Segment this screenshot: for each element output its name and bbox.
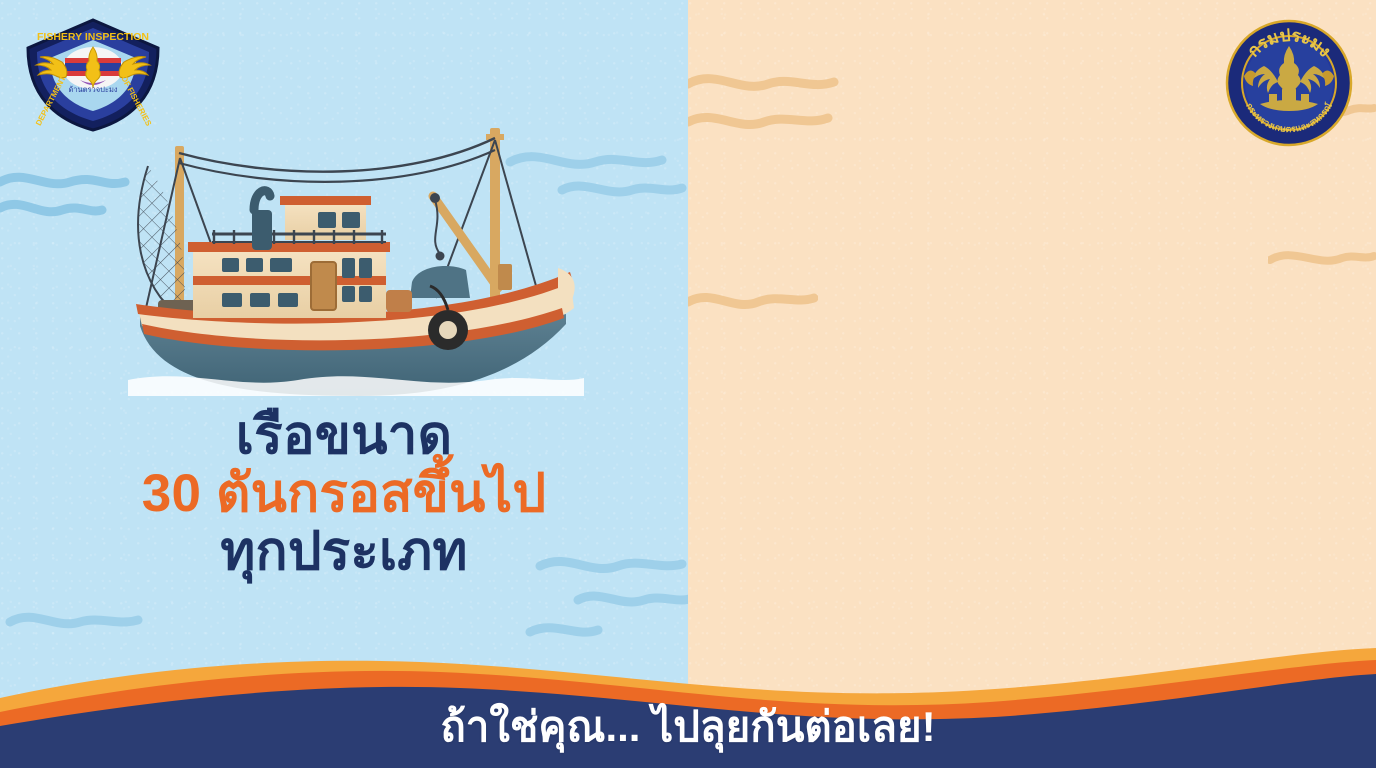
large-fishing-boat-illustration xyxy=(118,118,588,408)
banner-text: ถ้าใช่คุณ... ไปลุยกันต่อเลย! xyxy=(0,694,1376,760)
infographic-canvas: FISHERY INSPECTION DEPARTMENT OF FISHERI… xyxy=(0,0,1376,768)
fishery-inspection-badge: FISHERY INSPECTION DEPARTMENT OF FISHERI… xyxy=(18,14,168,134)
department-of-fisheries-seal: กรมประมง กระทรวงเกษตรและสหกรณ์ xyxy=(1224,18,1354,148)
wave-decoration-right-top xyxy=(688,60,878,190)
badge-thai-text: ด้านตรวจปะมง xyxy=(68,85,117,94)
wave-decoration-right-mid2 xyxy=(1268,232,1376,292)
left-heading: เรือขนาด 30 ตันกรอสขึ้นไป ทุกประเภท xyxy=(0,408,688,581)
left-heading-line1: เรือขนาด xyxy=(0,408,688,464)
badge-top-text: FISHERY INSPECTION xyxy=(37,31,149,43)
left-heading-line3: ทุกประเภท xyxy=(0,524,688,580)
left-heading-line2: 30 ตันกรอสขึ้นไป xyxy=(0,466,688,522)
wave-decoration-right-mid xyxy=(688,278,818,328)
